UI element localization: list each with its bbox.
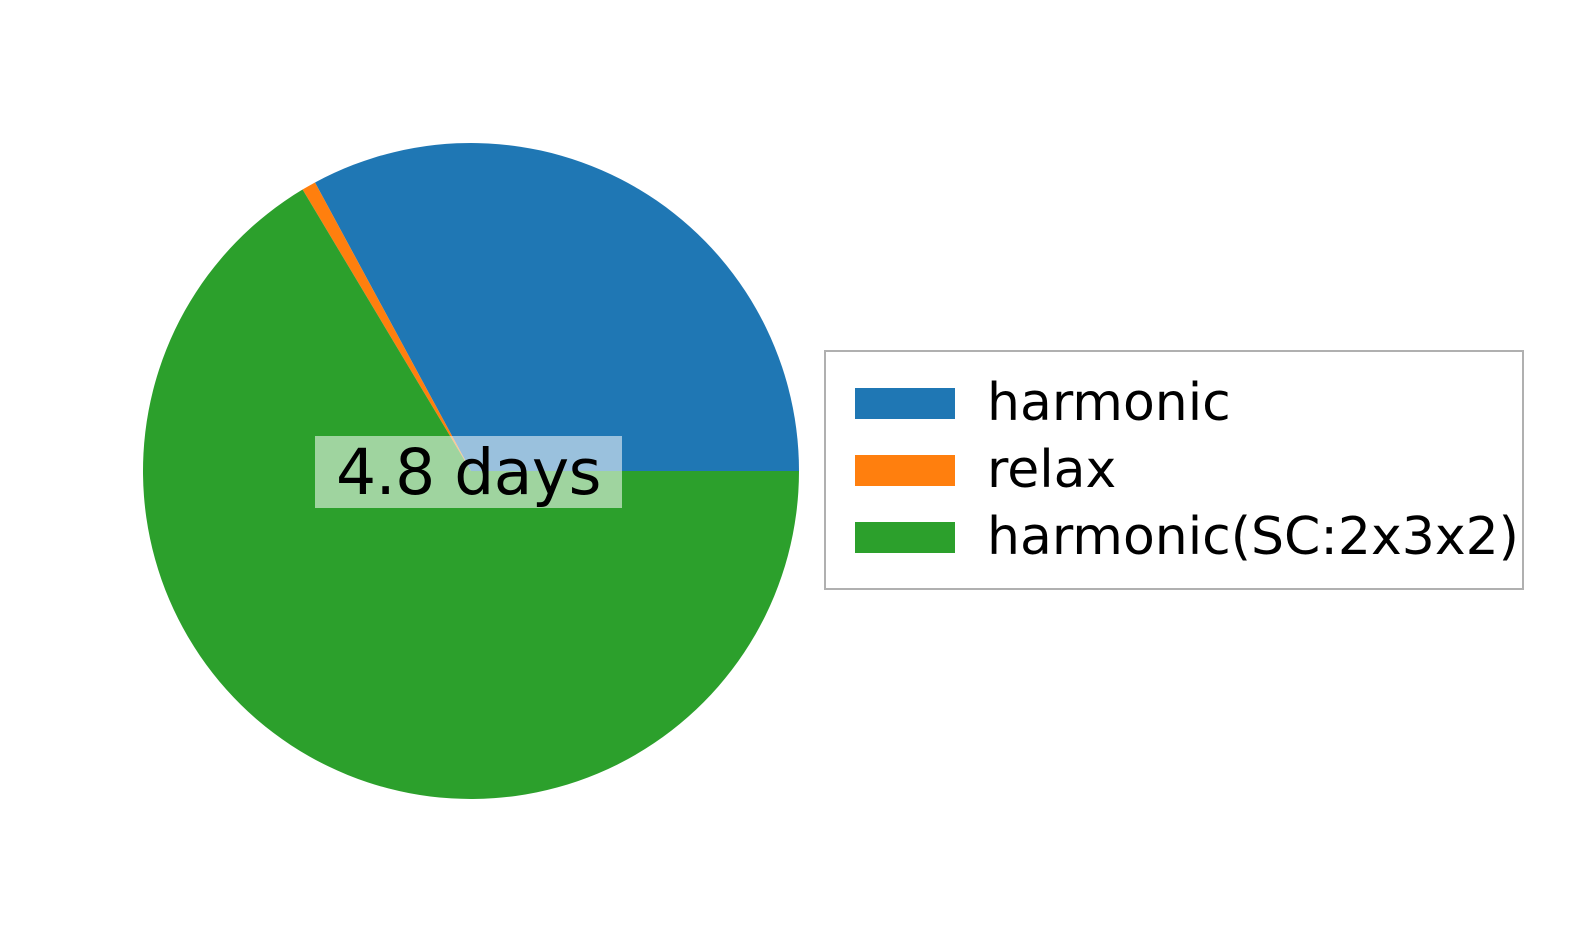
legend-item-relax[interactable]: relax — [826, 441, 1522, 499]
center-annotation-text: 4.8 days — [336, 441, 601, 504]
legend-label-harmonic: harmonic — [987, 377, 1231, 429]
legend-label-relax: relax — [987, 444, 1116, 496]
legend-item-harmonic[interactable]: harmonic — [826, 374, 1522, 432]
legend-swatch-harmonic — [855, 388, 955, 419]
legend-item-harmonic-sc[interactable]: harmonic(SC:2x3x2) — [826, 508, 1522, 566]
legend-label-harmonic-sc: harmonic(SC:2x3x2) — [987, 511, 1519, 563]
legend-swatch-harmonic-sc — [855, 522, 955, 553]
legend-swatch-relax — [855, 455, 955, 486]
chart-legend: harmonic relax harmonic(SC:2x3x2) — [824, 350, 1524, 590]
center-annotation-box: 4.8 days — [315, 436, 622, 508]
pie-chart-figure: 4.8 days harmonic relax harmonic(SC:2x3x… — [0, 0, 1584, 951]
